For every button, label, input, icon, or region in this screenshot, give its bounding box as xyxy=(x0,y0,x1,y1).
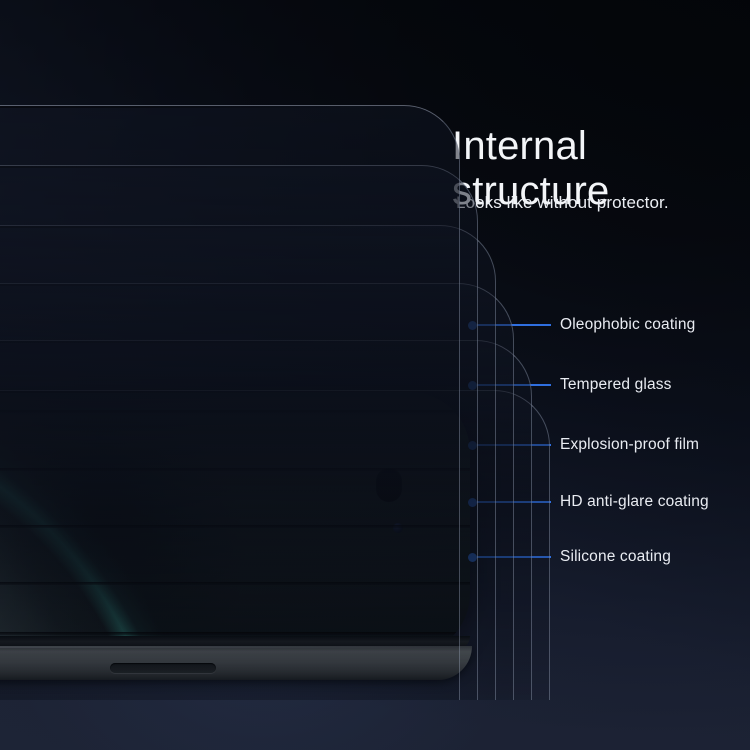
product-image: Oleophobic coatingTempered glassExplosio… xyxy=(0,0,750,750)
callout-label: Explosion-proof film xyxy=(560,436,699,454)
callout-label: HD anti-glare coating xyxy=(560,493,709,511)
callout-label: Tempered glass xyxy=(560,376,672,394)
page-subtitle: Looks like without protector. xyxy=(456,193,669,213)
callout-label: Silicone coating xyxy=(560,548,671,566)
callout-label: Oleophobic coating xyxy=(560,316,695,334)
protector-layer-stack xyxy=(0,0,520,700)
protector-sheet xyxy=(0,105,460,700)
